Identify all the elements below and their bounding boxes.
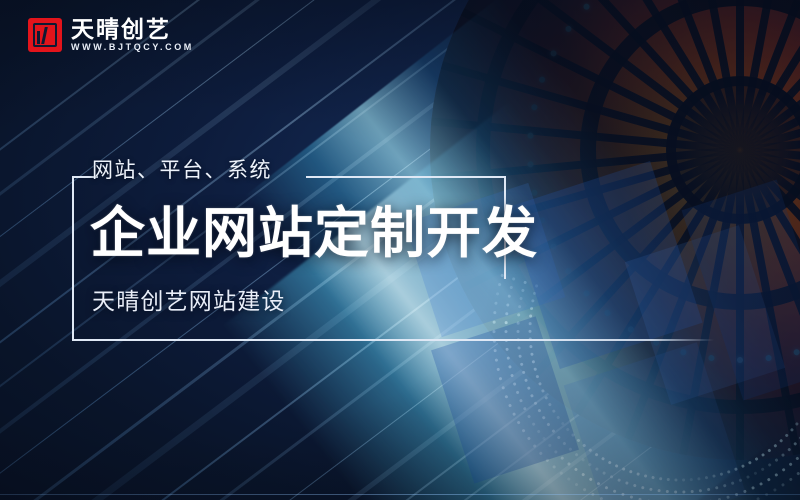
frame-edge-left — [72, 176, 74, 341]
kicker-rule — [306, 176, 470, 178]
headline-text: 企业网站定制开发 — [90, 204, 538, 263]
frame-edge-bottom — [72, 339, 506, 341]
kicker-text: 网站、平台、系统 — [92, 159, 272, 183]
brand-logo[interactable]: 天晴创艺 WWW.BJTQCY.COM — [28, 18, 194, 52]
logo-text-group: 天晴创艺 WWW.BJTQCY.COM — [71, 18, 194, 52]
tianqing-logo-mark-icon — [28, 18, 62, 52]
logo-mark-stroke — [37, 31, 40, 44]
brand-url: WWW.BJTQCY.COM — [71, 43, 194, 52]
frame-bottom-extension — [506, 339, 714, 341]
bottom-hairline — [0, 494, 800, 495]
promo-banner: 天晴创艺 WWW.BJTQCY.COM 网站、平台、系统 企业网站定制开发 天晴… — [0, 0, 800, 500]
subline-text: 天晴创艺网站建设 — [92, 288, 286, 316]
brand-name-cn: 天晴创艺 — [71, 18, 194, 41]
